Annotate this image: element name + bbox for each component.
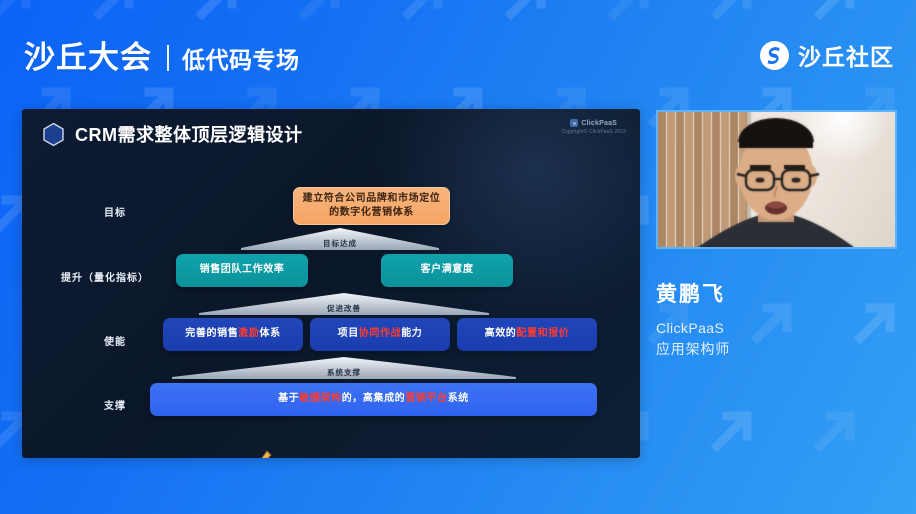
event-title-main: 沙丘大会 [24, 32, 152, 77]
enabler-1-post: 体系 [260, 327, 281, 342]
enabler-node-2[interactable]: 项目协同作战能力 [310, 318, 450, 351]
connector-system-support: 系统支撑 [172, 357, 516, 379]
speaker-info: 黄鹏飞 ClickPaaS 应用架构师 [656, 278, 906, 359]
connector-label-2: 促进改善 [199, 303, 489, 314]
clickpaas-watermark: ClickPaaS Copyright© ClickPaaS 2022 [561, 119, 626, 135]
webcam-image [658, 112, 895, 247]
enabler-2-pre: 项目 [338, 327, 359, 342]
enabler-1-highlight: 激励 [238, 327, 259, 342]
brand-logo-text: 沙丘社区 [798, 38, 894, 72]
slide-title: CRM需求整体顶层逻辑设计 [75, 121, 303, 147]
connector-goal-achievement: 目标达成 [241, 228, 439, 250]
row-label-metrics: 提升（量化指标） [40, 269, 170, 284]
watermark-copyright: Copyright© ClickPaaS 2022 [561, 129, 626, 135]
connector-label-1: 目标达成 [241, 238, 439, 249]
pencil-cursor-icon [256, 450, 272, 458]
goal-line-1: 建立符合公司品牌和市场定位 [303, 192, 441, 207]
row-label-goal: 目标 [70, 204, 160, 219]
foundation-p2: 的，高集成的 [342, 392, 406, 407]
enabler-3-highlight: 配置和报价 [516, 327, 569, 342]
enabler-node-1[interactable]: 完善的销售激励体系 [163, 318, 303, 351]
clickpaas-logo-icon [570, 119, 578, 127]
watermark-name: ClickPaaS [581, 120, 617, 127]
foundation-h1: 敏捷架构 [299, 392, 341, 407]
enabler-node-3[interactable]: 高效的配置和报价 [457, 318, 597, 351]
decorative-arrow-icon [804, 402, 862, 460]
foundation-h2: 营销平台 [405, 392, 447, 407]
slide-header: CRM需求整体顶层逻辑设计 [42, 121, 303, 147]
speaker-name: 黄鹏飞 [656, 278, 906, 308]
decorative-arrow-icon [701, 402, 759, 460]
enabler-1-pre: 完善的销售 [185, 327, 238, 342]
foundation-p1: 基于 [278, 392, 299, 407]
sandhill-s-logo-icon [760, 41, 789, 70]
enabler-2-highlight: 协同作战 [359, 327, 401, 342]
foundation-node[interactable]: 基于敏捷架构的，高集成的营销平台系统 [150, 383, 597, 416]
event-title-sub: 低代码专场 [182, 41, 300, 75]
slide-container[interactable]: CRM需求整体顶层逻辑设计 ClickPaaS Copyright© Click… [22, 109, 640, 458]
enabler-2-post: 能力 [401, 327, 422, 342]
title-divider [167, 45, 169, 71]
speaker-video-feed[interactable] [656, 110, 897, 249]
speaker-organization: ClickPaaS [656, 320, 906, 336]
presentation-screen: 沙丘大会 低代码专场 沙丘社区 CRM需求整体顶层逻辑设计 [0, 0, 916, 514]
connector-improvement: 促进改善 [199, 293, 489, 315]
speaker-role: 应用架构师 [656, 339, 906, 359]
metric-node-2[interactable]: 客户满意度 [381, 254, 513, 287]
foundation-p3: 系统 [448, 392, 469, 407]
goal-node[interactable]: 建立符合公司品牌和市场定位 的数字化营销体系 [293, 187, 450, 225]
connector-label-3: 系统支撑 [172, 367, 516, 378]
row-label-enablers: 使能 [70, 333, 160, 348]
page-header: 沙丘大会 低代码专场 沙丘社区 [0, 0, 916, 104]
event-title: 沙丘大会 低代码专场 [24, 32, 300, 77]
brand-logo: 沙丘社区 [760, 38, 894, 72]
hexagon-icon [42, 122, 65, 147]
enabler-3-pre: 高效的 [485, 327, 517, 342]
goal-line-2: 的数字化营销体系 [329, 206, 414, 221]
metric-node-1[interactable]: 销售团队工作效率 [176, 254, 308, 287]
row-label-foundation: 支撑 [70, 397, 160, 412]
